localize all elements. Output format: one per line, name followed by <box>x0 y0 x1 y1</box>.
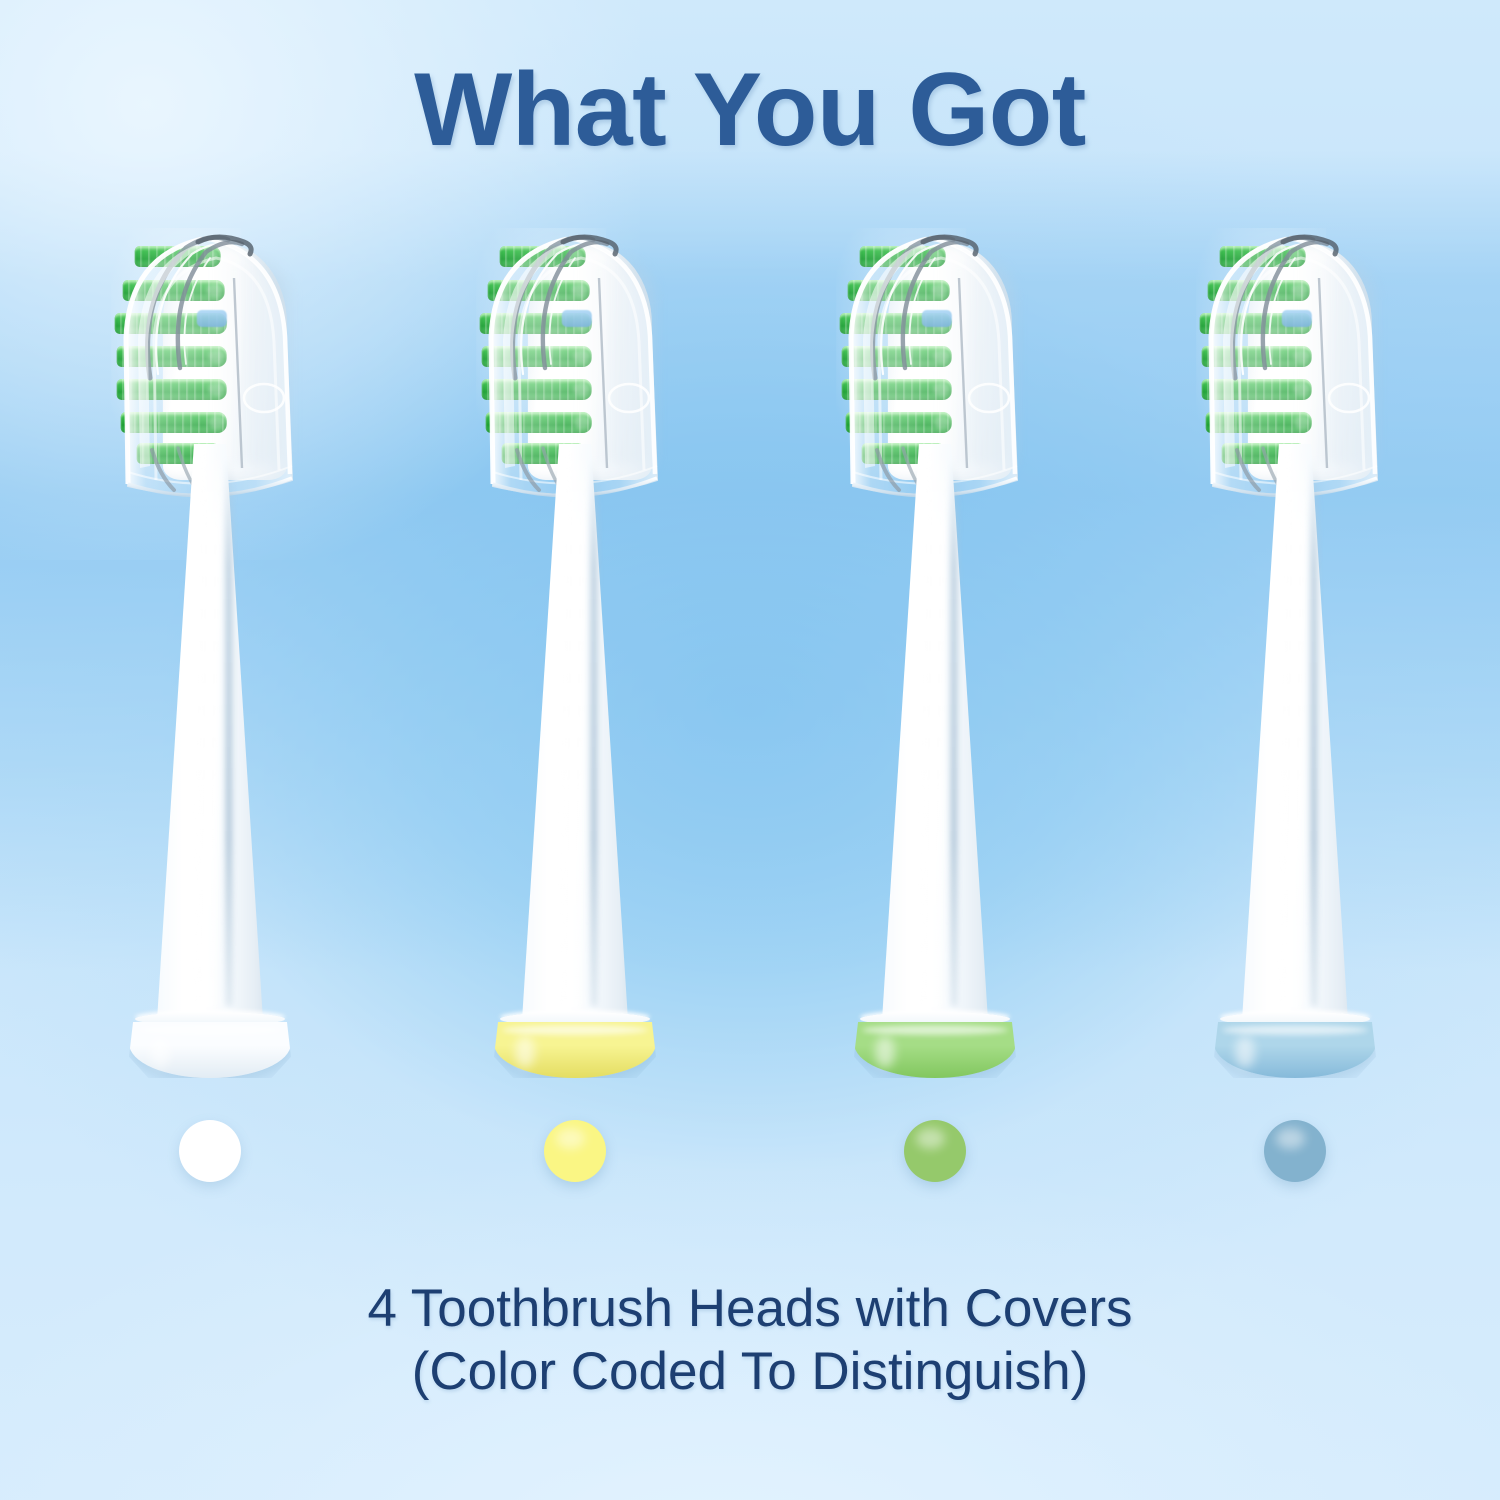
product-infographic: What You Got <box>0 0 1500 1500</box>
dot-gloss <box>556 1128 585 1149</box>
color-coded-base-ring <box>494 1022 656 1078</box>
bristle-tuft-icon <box>838 228 966 478</box>
blue-indicator-bristle-icon <box>922 310 952 327</box>
color-swatch-dot-2 <box>544 1120 606 1182</box>
dot-gloss <box>191 1128 220 1149</box>
color-swatch-dot-4 <box>1264 1120 1326 1182</box>
color-coded-base-ring <box>854 1022 1016 1078</box>
handle-edge-shadow <box>950 458 957 1006</box>
color-swatch-dot-3 <box>904 1120 966 1182</box>
bristle-tuft-icon <box>1198 228 1326 478</box>
blue-indicator-bristle-icon <box>197 310 227 327</box>
page-title: What You Got <box>0 58 1500 162</box>
color-coded-base-ring <box>1214 1022 1376 1078</box>
color-swatch-dot-1 <box>179 1120 241 1182</box>
caption-line-1: 4 Toothbrush Heads with Covers <box>368 1279 1133 1338</box>
handle-edge-shadow <box>225 458 232 1006</box>
bristle-tuft-icon <box>113 228 241 478</box>
handle-edge-shadow <box>590 458 597 1006</box>
caption: 4 Toothbrush Heads with Covers (Color Co… <box>0 1277 1500 1404</box>
blue-indicator-bristle-icon <box>562 310 592 327</box>
blue-indicator-bristle-icon <box>1282 310 1312 327</box>
toothbrush-head-4 <box>1145 218 1445 1078</box>
caption-line-2: (Color Coded To Distinguish) <box>0 1340 1500 1404</box>
dot-gloss <box>916 1128 945 1149</box>
dot-gloss <box>1276 1128 1305 1149</box>
background-highlight-bottom <box>0 1040 1500 1500</box>
bristle-tuft-icon <box>478 228 606 478</box>
color-coded-base-ring <box>129 1022 291 1078</box>
toothbrush-head-3 <box>785 218 1085 1078</box>
handle-edge-shadow <box>1310 458 1317 1006</box>
toothbrush-head-2 <box>425 218 725 1078</box>
toothbrush-head-1 <box>60 218 360 1078</box>
